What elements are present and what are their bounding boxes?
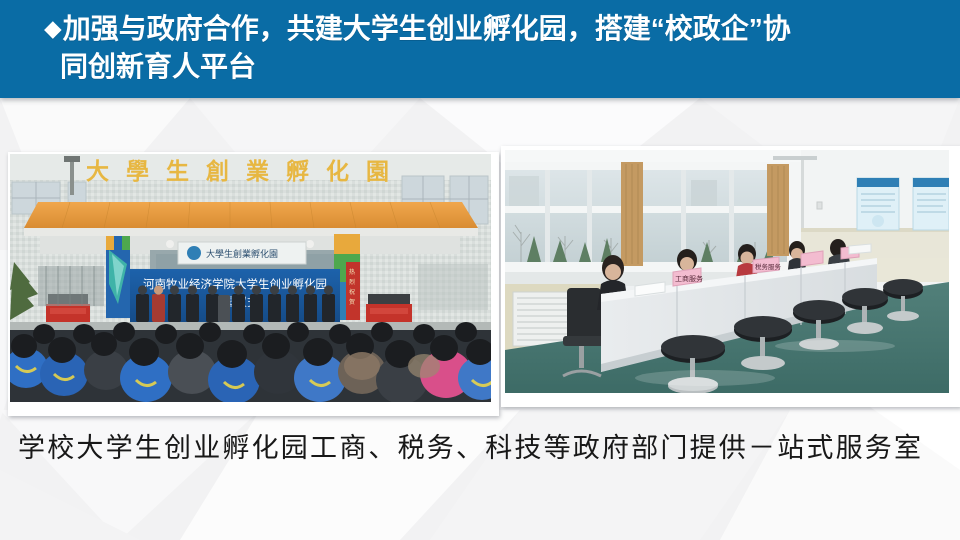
slide-title-banner: ◆加强与政府合作，共建大学生创业孵化园，搭建“校政企”协 同创新育人平台 bbox=[0, 0, 960, 98]
diamond-bullet-icon: ◆ bbox=[44, 9, 62, 47]
svg-text:税务服务: 税务服务 bbox=[755, 262, 782, 271]
title-line-1: ◆加强与政府合作，共建大学生创业孵化园，搭建“校政企”协 bbox=[44, 9, 940, 48]
svg-text:工商服务: 工商服务 bbox=[675, 274, 703, 283]
svg-text:學: 學 bbox=[126, 158, 149, 184]
svg-text:贺: 贺 bbox=[349, 298, 355, 306]
photo-ceremony[interactable]: 大學生 創業孵 化園 bbox=[8, 152, 499, 416]
svg-text:大學生創業孵化園: 大學生創業孵化園 bbox=[206, 248, 278, 259]
svg-text:化: 化 bbox=[326, 158, 349, 184]
caption-row: 学校大学生创业孵化园工商、税务、科技等政府部门提供－站式服务室 bbox=[0, 424, 960, 480]
svg-text:園: 園 bbox=[366, 159, 389, 184]
photo-ceremony-image: 大學生 創業孵 化園 bbox=[10, 154, 491, 402]
slide-title: ◆加强与政府合作，共建大学生创业孵化园，搭建“校政企”协 同创新育人平台 bbox=[44, 9, 940, 86]
svg-text:大: 大 bbox=[86, 159, 109, 184]
presentation-slide: ◆加强与政府合作，共建大学生创业孵化园，搭建“校政企”协 同创新育人平台 bbox=[0, 0, 960, 540]
svg-text:祝: 祝 bbox=[349, 288, 355, 296]
svg-text:生: 生 bbox=[166, 159, 189, 184]
svg-text:烈: 烈 bbox=[349, 278, 355, 286]
svg-text:孵: 孵 bbox=[286, 158, 309, 184]
caption-text: 学校大学生创业孵化园工商、税务、科技等政府部门提供－站式服务室 bbox=[18, 424, 923, 472]
title-line-1-text: 加强与政府合作，共建大学生创业孵化园，搭建“校政企”协 bbox=[63, 13, 791, 44]
svg-text:業: 業 bbox=[245, 158, 270, 184]
svg-text:創: 創 bbox=[206, 159, 229, 184]
photo-service-room[interactable]: 工商服务 税务服务 bbox=[501, 146, 960, 407]
svg-text:热: 热 bbox=[349, 268, 355, 276]
title-line-2: 同创新育人平台 bbox=[60, 48, 940, 86]
photo-service-room-image: 工商服务 税务服务 bbox=[505, 150, 949, 393]
